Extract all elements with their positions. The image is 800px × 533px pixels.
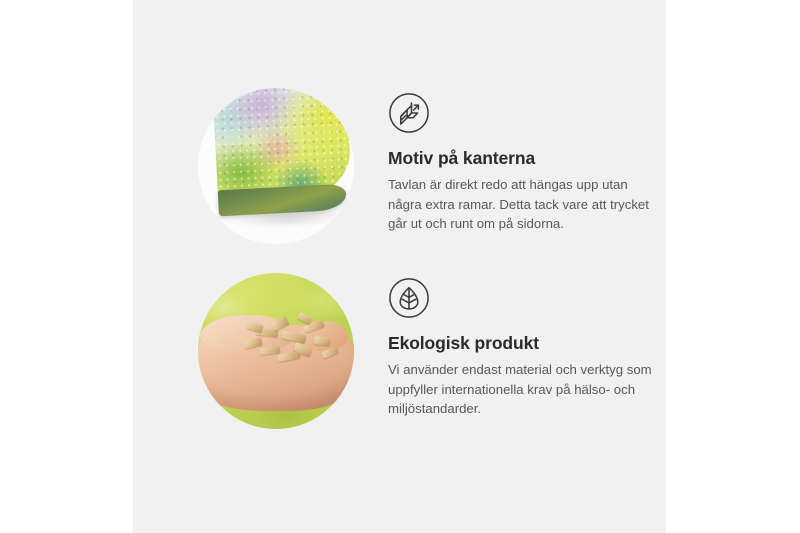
feature-block-eco-product: Ekologisk produkt Vi använder endast mat… (198, 273, 656, 429)
product-feature-panel: Motiv på kanterna Tavlan är direkt redo … (0, 0, 800, 533)
leaf-icon (388, 277, 430, 319)
wood-chip-pile (242, 315, 342, 367)
canvas-corner-photo (198, 88, 354, 244)
feature-title: Motiv på kanterna (388, 148, 656, 169)
feature-block-canvas-edges: Motiv på kanterna Tavlan är direkt redo … (198, 88, 656, 244)
content-panel: Motiv på kanterna Tavlan är direkt redo … (133, 0, 666, 533)
feature-text-column: Motiv på kanterna Tavlan är direkt redo … (388, 88, 656, 234)
feature-text-column: Ekologisk produkt Vi använder endast mat… (388, 273, 656, 419)
canvas-wrapped-edge-icon (388, 92, 430, 134)
wood-chips-in-hands-photo (198, 273, 354, 429)
feature-description: Vi använder endast material och verktyg … (388, 360, 656, 419)
feature-title: Ekologisk produkt (388, 333, 656, 354)
canvas-corner-illustration (212, 88, 354, 235)
feature-description: Tavlan är direkt redo att hängas upp uta… (388, 175, 656, 234)
